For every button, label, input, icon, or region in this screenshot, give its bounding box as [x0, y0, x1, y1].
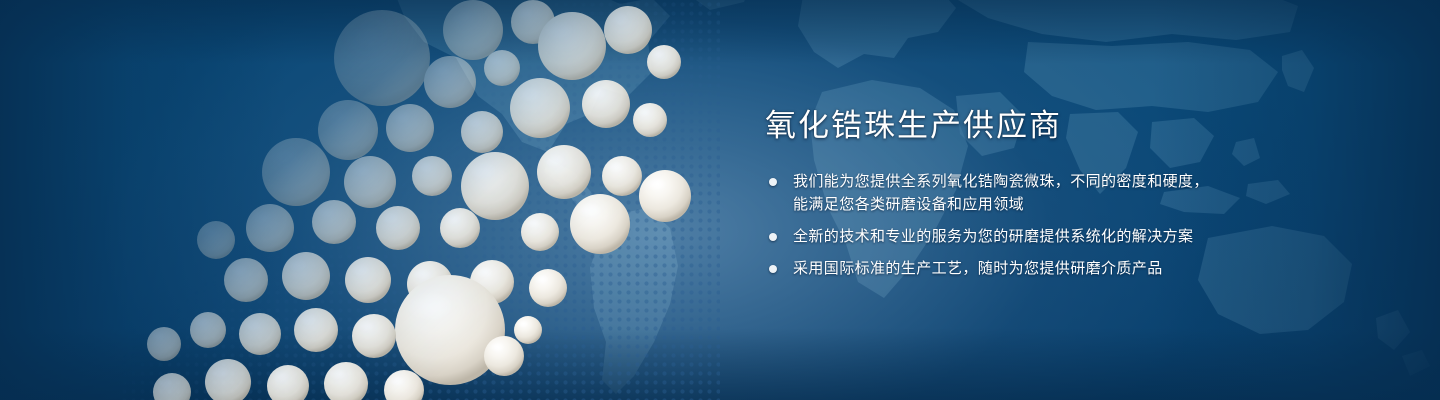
- zirconia-beads-photo: [120, 0, 720, 400]
- list-item-line: 能满足您各类研磨设备和应用领域: [793, 193, 1325, 216]
- list-item-line: 采用国际标准的生产工艺，随时为您提供研磨介质产品: [793, 257, 1325, 280]
- list-item: 采用国际标准的生产工艺，随时为您提供研磨介质产品: [765, 257, 1325, 280]
- page-title: 氧化锆珠生产供应商: [765, 106, 1325, 146]
- bullet-dot-icon: [769, 265, 777, 273]
- bullet-dot-icon: [769, 178, 777, 186]
- feature-list: 我们能为您提供全系列氧化锆陶瓷微珠，不同的密度和硬度， 能满足您各类研磨设备和应…: [765, 170, 1325, 280]
- banner-copy: 氧化锆珠生产供应商 我们能为您提供全系列氧化锆陶瓷微珠，不同的密度和硬度， 能满…: [765, 106, 1325, 280]
- list-item: 全新的技术和专业的服务为您的研磨提供系统化的解决方案: [765, 225, 1325, 248]
- hero-banner: 氧化锆珠生产供应商 我们能为您提供全系列氧化锆陶瓷微珠，不同的密度和硬度， 能满…: [0, 0, 1440, 400]
- list-item: 我们能为您提供全系列氧化锆陶瓷微珠，不同的密度和硬度， 能满足您各类研磨设备和应…: [765, 170, 1325, 216]
- bullet-dot-icon: [769, 233, 777, 241]
- list-item-line: 全新的技术和专业的服务为您的研磨提供系统化的解决方案: [793, 225, 1325, 248]
- list-item-line: 我们能为您提供全系列氧化锆陶瓷微珠，不同的密度和硬度，: [793, 170, 1325, 193]
